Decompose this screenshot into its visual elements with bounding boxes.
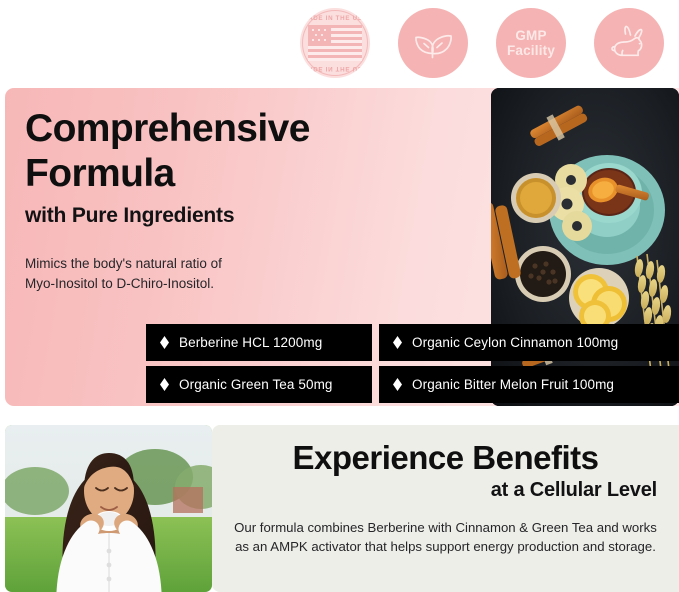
hero-title-line2: Formula bbox=[25, 152, 175, 195]
ingredient-pill: Organic Ceylon Cinnamon 100mg bbox=[379, 324, 679, 361]
woman-drinking-tea-illustration bbox=[5, 425, 212, 592]
usa-flag-canton-icon bbox=[308, 25, 331, 44]
gmp-label-line2: Facility bbox=[507, 43, 555, 58]
hero-subtitle: with Pure Ingredients bbox=[25, 204, 465, 228]
benefits-subtitle: at a Cellular Level bbox=[234, 479, 657, 502]
diamond-bullet-icon bbox=[393, 336, 402, 349]
ingredient-pill: Organic Green Tea 50mg bbox=[146, 366, 372, 403]
benefits-copy-panel: Experience Benefits at a Cellular Level … bbox=[212, 425, 679, 592]
hero-title-line1: Comprehensive bbox=[25, 107, 310, 150]
usa-seal-bottom-text: MADE IN THE USA bbox=[300, 65, 370, 72]
ingredient-pill: Organic Bitter Melon Fruit 100mg bbox=[379, 366, 679, 403]
certification-badge-strip: MADE IN THE USA MADE IN THE USA GMP Faci… bbox=[0, 0, 679, 85]
ingredient-pill: Berberine HCL 1200mg bbox=[146, 324, 372, 361]
hero-body-text: Mimics the body's natural ratio of Myo-I… bbox=[25, 254, 240, 294]
gmp-label-line1: GMP bbox=[507, 28, 555, 43]
badge-cruelty-free bbox=[594, 8, 664, 78]
page-title: Comprehensive Formula bbox=[25, 106, 465, 196]
badge-made-in-usa: MADE IN THE USA MADE IN THE USA bbox=[300, 8, 370, 78]
usa-seal-top-text: MADE IN THE USA bbox=[300, 15, 370, 22]
ingredient-label: Organic Green Tea 50mg bbox=[179, 377, 333, 392]
gmp-facility-label: GMP Facility bbox=[507, 28, 555, 58]
ingredient-label: Organic Bitter Melon Fruit 100mg bbox=[412, 377, 614, 392]
diamond-bullet-icon bbox=[160, 378, 169, 391]
badge-gmp-facility: GMP Facility bbox=[496, 8, 566, 78]
diamond-bullet-icon bbox=[393, 378, 402, 391]
woman-drinking-tea-photo bbox=[5, 425, 212, 592]
experience-benefits-section: Experience Benefits at a Cellular Level … bbox=[0, 425, 679, 592]
diamond-bullet-icon bbox=[160, 336, 169, 349]
ingredient-list: Berberine HCL 1200mg Organic Ceylon Cinn… bbox=[146, 324, 679, 403]
usa-flag-icon bbox=[308, 25, 362, 61]
ingredient-label: Organic Ceylon Cinnamon 100mg bbox=[412, 335, 618, 350]
benefits-title: Experience Benefits bbox=[234, 439, 657, 477]
rabbit-icon bbox=[609, 24, 649, 62]
benefits-body-text: Our formula combines Berberine with Cinn… bbox=[234, 518, 657, 556]
leaves-icon bbox=[413, 26, 453, 60]
ingredient-label: Berberine HCL 1200mg bbox=[179, 335, 322, 350]
badge-natural-leaves bbox=[398, 8, 468, 78]
hero-copy-block: Comprehensive Formula with Pure Ingredie… bbox=[25, 106, 465, 294]
